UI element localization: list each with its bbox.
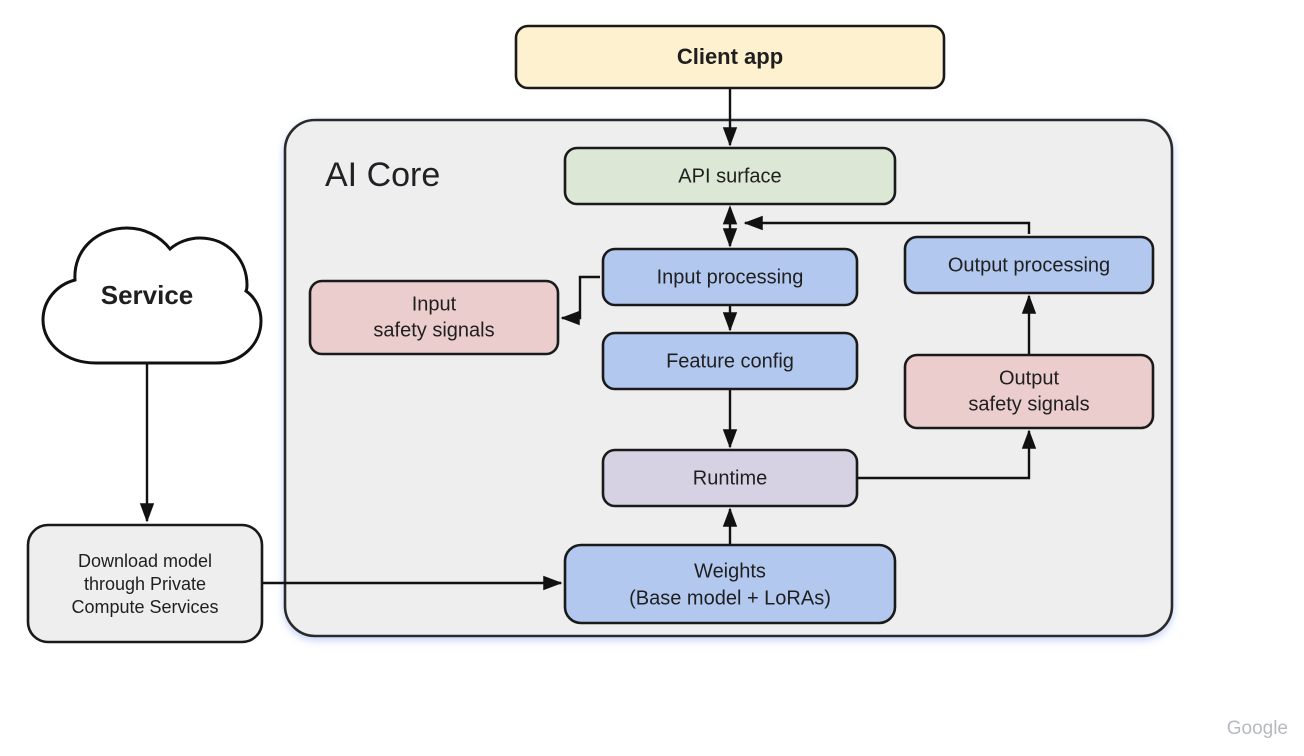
output-processing-label: Output processing xyxy=(948,254,1110,276)
weights-label-line-2: (Base model + LoRAs) xyxy=(629,587,831,609)
runtime-label: Runtime xyxy=(693,467,767,489)
input-safety-signals-label-line-2: safety signals xyxy=(373,319,494,341)
api-surface-label: API surface xyxy=(678,165,781,187)
weights-box[interactable] xyxy=(565,545,895,623)
node-weights[interactable]: Weights (Base model + LoRAs) xyxy=(565,545,895,623)
download-model-label-line-2: through Private xyxy=(84,574,206,594)
output-safety-signals-label-line-2: safety signals xyxy=(968,393,1089,415)
download-model-label-line-3: Compute Services xyxy=(71,597,218,617)
service-cloud-label: Service xyxy=(101,280,194,310)
node-download-model[interactable]: Download model through Private Compute S… xyxy=(28,525,262,642)
node-output-processing[interactable]: Output processing xyxy=(905,237,1153,293)
output-safety-signals-box[interactable] xyxy=(905,355,1153,428)
output-safety-signals-label-line-1: Output xyxy=(999,367,1059,389)
node-feature-config[interactable]: Feature config xyxy=(603,333,857,389)
google-brand-label: Google xyxy=(1227,718,1288,739)
input-processing-label: Input processing xyxy=(657,266,804,288)
node-input-safety-signals[interactable]: Input safety signals xyxy=(310,281,558,354)
client-app-label: Client app xyxy=(677,44,783,69)
feature-config-label: Feature config xyxy=(666,350,794,372)
ai-core-title: AI Core xyxy=(325,156,440,194)
input-safety-signals-box[interactable] xyxy=(310,281,558,354)
weights-label-line-1: Weights xyxy=(694,560,766,582)
download-model-label-line-1: Download model xyxy=(78,551,212,571)
diagram-canvas: AI Core xyxy=(0,0,1304,756)
node-input-processing[interactable]: Input processing xyxy=(603,249,857,305)
architecture-diagram: AI Core xyxy=(0,0,1304,756)
node-client-app[interactable]: Client app xyxy=(516,26,944,88)
node-service-cloud[interactable]: Service xyxy=(43,228,261,363)
input-safety-signals-label-line-1: Input xyxy=(412,293,457,315)
node-api-surface[interactable]: API surface xyxy=(565,148,895,204)
node-runtime[interactable]: Runtime xyxy=(603,450,857,506)
node-output-safety-signals[interactable]: Output safety signals xyxy=(905,355,1153,428)
